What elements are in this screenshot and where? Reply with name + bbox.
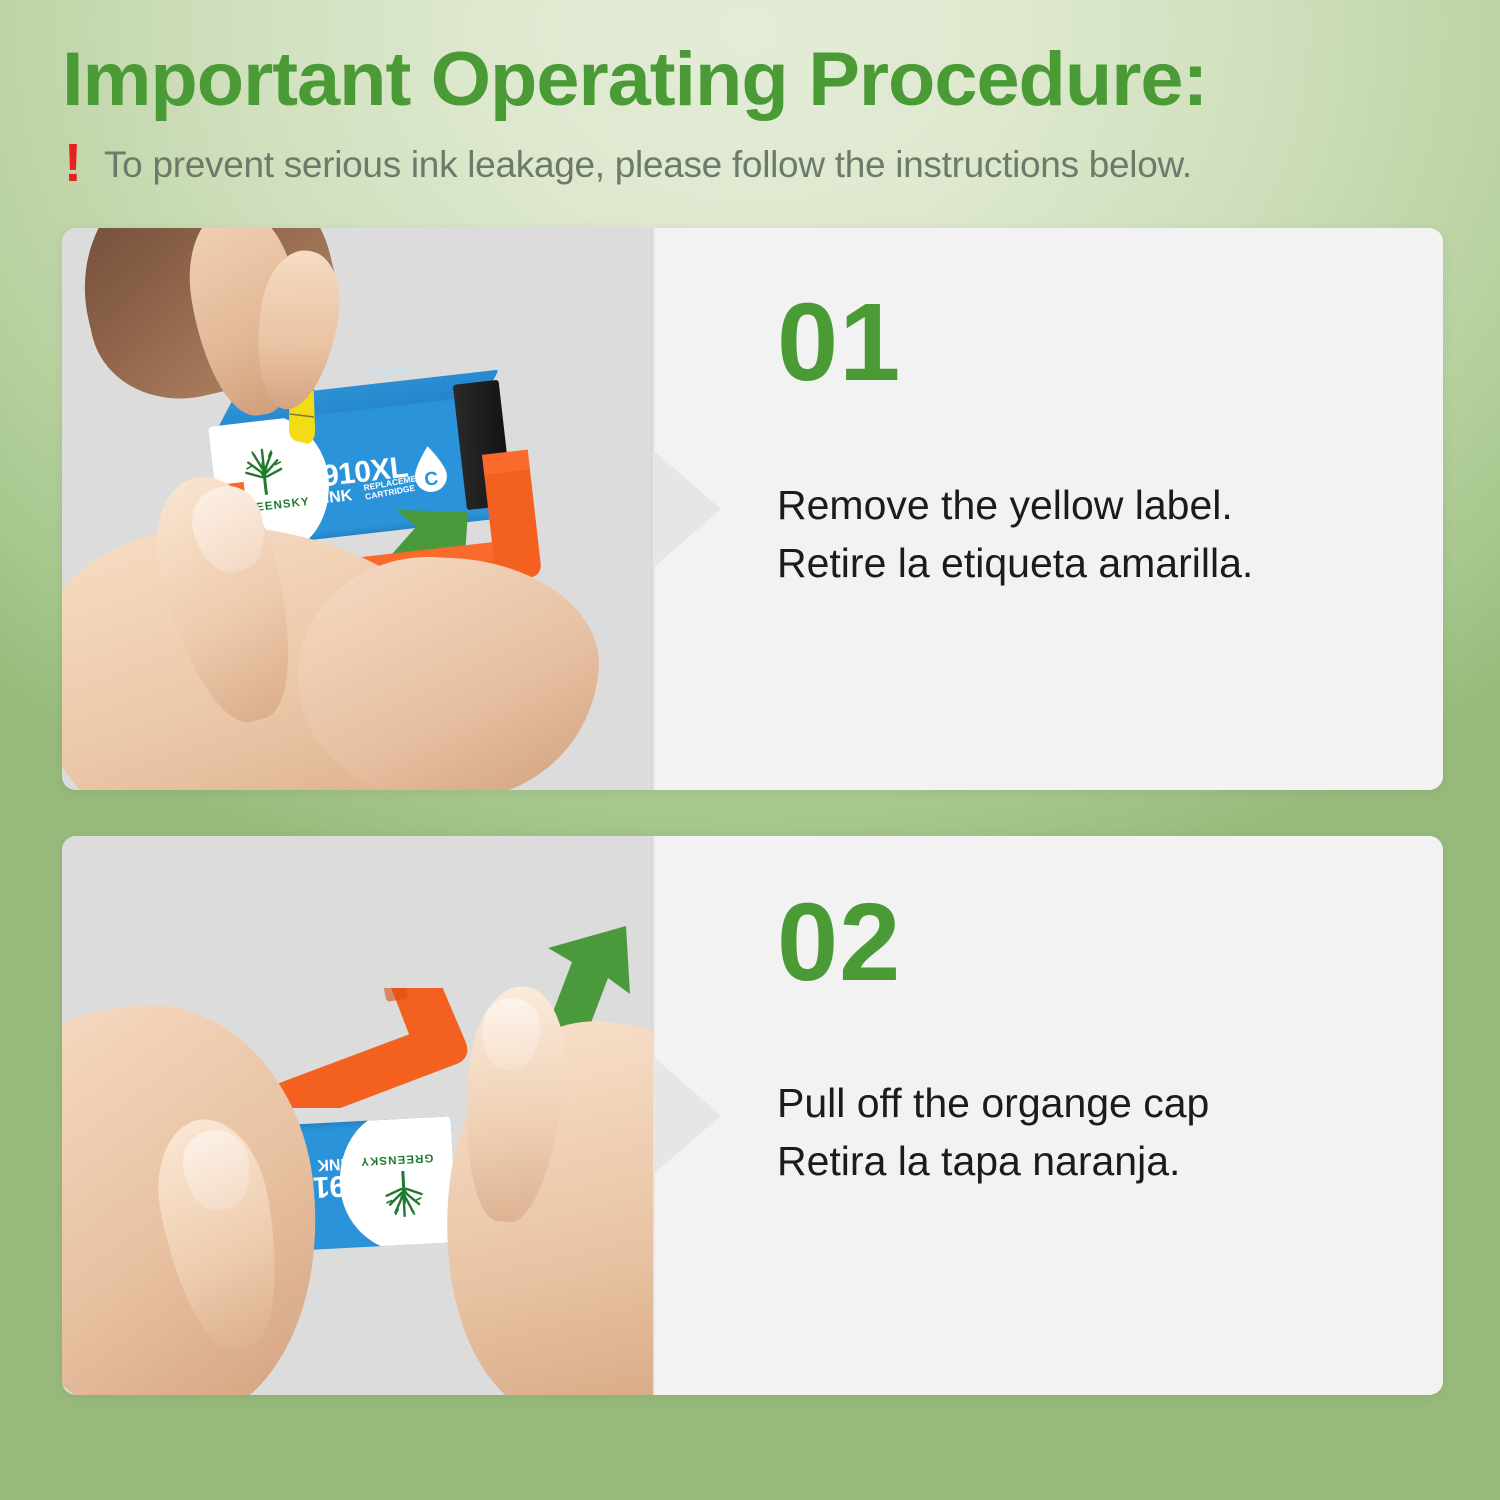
page-title: Important Operating Procedure: xyxy=(62,36,1207,123)
step-text-en: Pull off the organge cap xyxy=(777,1074,1209,1132)
step-text-es: Retire la etiqueta amarilla. xyxy=(777,534,1253,592)
step-description: Pull off the organge cap Retira la tapa … xyxy=(777,1074,1209,1190)
warning-subtitle: To prevent serious ink leakage, please f… xyxy=(104,144,1192,186)
step-number: 01 xyxy=(777,288,901,398)
cartridge-top-model: 910XL xyxy=(359,363,422,381)
tree-icon xyxy=(375,1165,434,1224)
warning-line: ! To prevent serious ink leakage, please… xyxy=(64,138,1192,192)
step-number: 02 xyxy=(777,888,901,998)
page-header: Important Operating Procedure: ! To prev… xyxy=(0,0,1500,220)
exclamation-icon: ! xyxy=(64,136,82,190)
step-description: Remove the yellow label. Retire la etiqu… xyxy=(777,476,1253,592)
step-1-text-panel: 01 Remove the yellow label. Retire la et… xyxy=(653,228,1443,790)
step-card-1: 910XL xyxy=(62,228,1443,790)
step-2-photo: GREENSKY 910XL INK REPLACEMENT CARTRIDGE… xyxy=(62,836,653,1395)
cartridge-ink-word: INK xyxy=(317,1154,345,1173)
step-text-es: Retira la tapa naranja. xyxy=(777,1132,1209,1190)
step-2-text-panel: 02 Pull off the organge cap Retira la ta… xyxy=(653,836,1443,1395)
step-card-2: GREENSKY 910XL INK REPLACEMENT CARTRIDGE… xyxy=(62,836,1443,1395)
step-text-en: Remove the yellow label. xyxy=(777,476,1253,534)
step-1-photo: 910XL xyxy=(62,228,653,790)
